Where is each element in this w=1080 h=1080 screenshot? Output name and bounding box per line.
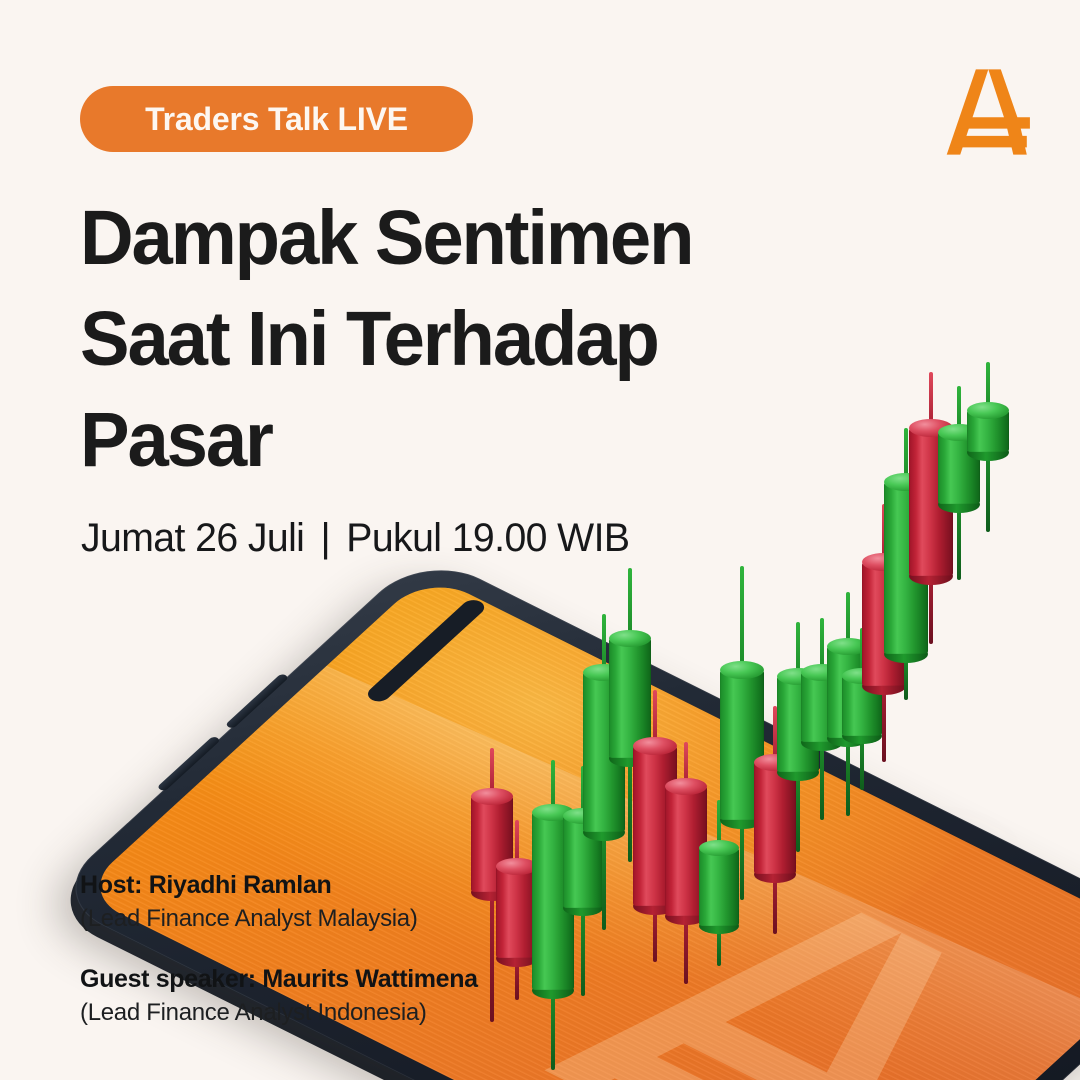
- candlestick-bullish: [609, 568, 651, 862]
- candle-body: [496, 866, 538, 958]
- candle-body: [633, 746, 677, 906]
- candle-body-cap: [827, 638, 869, 655]
- candle-body-base: [827, 730, 869, 747]
- candle-upper-wick: [846, 592, 850, 646]
- candle-body-cap: [665, 778, 707, 795]
- headline-line-1: Dampak Sentimen: [80, 188, 813, 289]
- live-badge[interactable]: Traders Talk LIVE: [80, 86, 473, 152]
- candle-upper-wick: [904, 428, 908, 482]
- candle-upper-wick: [740, 566, 744, 670]
- candle-lower-wick: [957, 504, 961, 580]
- headline-line-2: Saat Ini Terhadap: [80, 289, 813, 390]
- candle-lower-wick: [717, 926, 721, 966]
- candle-body-base: [884, 645, 928, 663]
- candle-body-cap: [471, 788, 513, 805]
- candle-body-base: [583, 824, 625, 841]
- candle-lower-wick: [929, 576, 933, 644]
- candle-body-cap: [754, 754, 796, 771]
- candlestick-bullish: [884, 428, 928, 700]
- candle-upper-wick: [515, 820, 519, 866]
- phone-ground-shadow: [405, 755, 1054, 1080]
- candle-body-cap: [938, 424, 980, 441]
- candlestick-bullish: [532, 760, 574, 1070]
- candle-body-cap: [777, 668, 819, 685]
- candle-upper-wick: [490, 748, 494, 796]
- candle-body-base: [754, 866, 796, 883]
- candle-body: [842, 676, 882, 736]
- candle-upper-wick: [628, 568, 632, 638]
- candle-body-base: [720, 811, 764, 829]
- candle-body: [532, 812, 574, 990]
- candle-body-cap: [884, 473, 928, 491]
- candle-body-base: [532, 982, 574, 999]
- candlestick-bearish: [665, 742, 707, 984]
- candle-upper-wick: [796, 622, 800, 676]
- candlestick-bullish: [801, 618, 843, 820]
- candle-body-base: [842, 728, 882, 744]
- candle-lower-wick: [773, 874, 777, 934]
- candle-lower-wick: [581, 908, 585, 996]
- candle-body: [665, 786, 707, 916]
- candle-lower-wick: [740, 820, 744, 900]
- schedule-separator: |: [315, 516, 336, 561]
- speaker-guest: Guest speaker: Maurits Wattimena (Lead F…: [80, 962, 478, 1030]
- candlestick-bullish: [699, 800, 739, 966]
- live-badge-label: Traders Talk LIVE: [145, 101, 408, 138]
- candle-lower-wick: [653, 906, 657, 962]
- schedule-time: Pukul 19.00 WIB: [346, 516, 629, 560]
- candle-body: [609, 638, 651, 758]
- candle-upper-wick: [684, 742, 688, 786]
- candle-upper-wick: [820, 618, 824, 672]
- candle-body-cap: [699, 840, 739, 856]
- candle-body-base: [563, 900, 603, 916]
- speaker-host: Host: Riyadhi Ramlan (Lead Finance Analy…: [80, 868, 478, 936]
- candle-body: [754, 762, 796, 874]
- candle-body-cap: [909, 419, 953, 437]
- candle-body: [699, 848, 739, 926]
- candle-body-cap: [563, 808, 603, 824]
- candlestick-bearish: [909, 372, 953, 644]
- candle-upper-wick: [882, 504, 886, 562]
- candle-body-cap: [801, 664, 843, 681]
- candle-lower-wick: [602, 832, 606, 930]
- candle-body: [801, 672, 843, 742]
- candlestick-bullish: [827, 592, 869, 816]
- candle-body: [777, 676, 819, 772]
- candle-upper-wick: [581, 766, 585, 816]
- candlestick-bullish: [720, 566, 764, 900]
- candle-body: [909, 428, 953, 576]
- phone-volume-down-button: [156, 736, 221, 792]
- candlestick-bearish: [633, 690, 677, 962]
- schedule-date: Jumat 26 Juli: [81, 516, 304, 560]
- candle-body-cap: [496, 858, 538, 875]
- candlestick-bullish: [563, 766, 603, 996]
- candle-body: [583, 672, 625, 832]
- speaker-host-role: (Lead Finance Analyst Malaysia): [80, 902, 478, 936]
- phone-volume-up-button: [225, 673, 290, 729]
- page-title: Dampak Sentimen Saat Ini Terhadap Pasar: [80, 188, 840, 491]
- candle-lower-wick: [986, 452, 990, 532]
- candlestick-bearish: [754, 706, 796, 934]
- phone-notch: [364, 597, 489, 704]
- candle-lower-wick: [846, 738, 850, 816]
- candlestick-bullish: [842, 628, 882, 790]
- candle-lower-wick: [628, 758, 632, 862]
- letter-a-logo-icon: [928, 60, 1032, 164]
- candle-body-base: [967, 444, 1009, 461]
- candle-upper-wick: [986, 362, 990, 410]
- candle-body-base: [938, 496, 980, 513]
- candle-body-base: [609, 750, 651, 767]
- speakers-block: Host: Riyadhi Ramlan (Lead Finance Analy…: [80, 868, 478, 1056]
- candle-body-cap: [967, 402, 1009, 419]
- candle-body-cap: [609, 630, 651, 647]
- candle-body: [827, 646, 869, 738]
- candle-body: [938, 432, 980, 504]
- candle-body-cap: [720, 661, 764, 679]
- candle-upper-wick: [602, 614, 606, 672]
- candle-body-base: [862, 677, 906, 695]
- candlestick-bearish: [496, 820, 538, 1000]
- candlestick-bullish: [777, 622, 819, 852]
- candle-upper-wick: [860, 628, 864, 676]
- candle-body-base: [801, 734, 843, 751]
- candle-body: [720, 670, 764, 820]
- candle-body-base: [909, 567, 953, 585]
- candle-lower-wick: [860, 736, 864, 790]
- candle-body-cap: [862, 553, 906, 571]
- candle-lower-wick: [796, 772, 800, 852]
- candle-body-base: [496, 950, 538, 967]
- candlestick-bullish: [583, 614, 625, 930]
- candlestick-bullish: [967, 362, 1009, 532]
- candle-upper-wick: [717, 800, 721, 848]
- candle-body-cap: [583, 664, 625, 681]
- candle-upper-wick: [551, 760, 555, 812]
- candle-lower-wick: [904, 654, 908, 700]
- promo-poster: Traders Talk LIVE Dampak Sentimen Saat I…: [0, 0, 1080, 1080]
- candle-body-cap: [633, 737, 677, 755]
- candle-upper-wick: [653, 690, 657, 746]
- candle-lower-wick: [551, 990, 555, 1070]
- candlestick-bearish: [862, 504, 906, 762]
- candle-upper-wick: [929, 372, 933, 428]
- candle-body: [563, 816, 603, 908]
- headline-line-3: Pasar: [80, 390, 813, 491]
- candlestick-bullish: [938, 386, 980, 580]
- candle-body-base: [777, 764, 819, 781]
- schedule-line: Jumat 26 Juli | Pukul 19.00 WIB: [81, 516, 629, 561]
- speaker-guest-role: (Lead Finance Analyst Indonesia): [80, 996, 478, 1030]
- candle-body-base: [665, 908, 707, 925]
- candle-body-base: [633, 897, 677, 915]
- candle-upper-wick: [957, 386, 961, 432]
- candle-lower-wick: [820, 742, 824, 820]
- candle-lower-wick: [882, 686, 886, 762]
- speaker-guest-name: Guest speaker: Maurits Wattimena: [80, 962, 478, 996]
- candle-lower-wick: [515, 958, 519, 1000]
- candle-upper-wick: [773, 706, 777, 762]
- candle-lower-wick: [684, 916, 688, 984]
- candle-body-cap: [532, 804, 574, 821]
- candle-body-base: [699, 918, 739, 934]
- candle-body: [862, 562, 906, 686]
- speaker-host-name: Host: Riyadhi Ramlan: [80, 868, 478, 902]
- candle-body: [884, 482, 928, 654]
- candle-body: [967, 410, 1009, 452]
- letter-a-logo-watermark-icon: [424, 796, 1080, 1080]
- candle-body-cap: [842, 668, 882, 684]
- candle-lower-wick: [490, 892, 494, 1022]
